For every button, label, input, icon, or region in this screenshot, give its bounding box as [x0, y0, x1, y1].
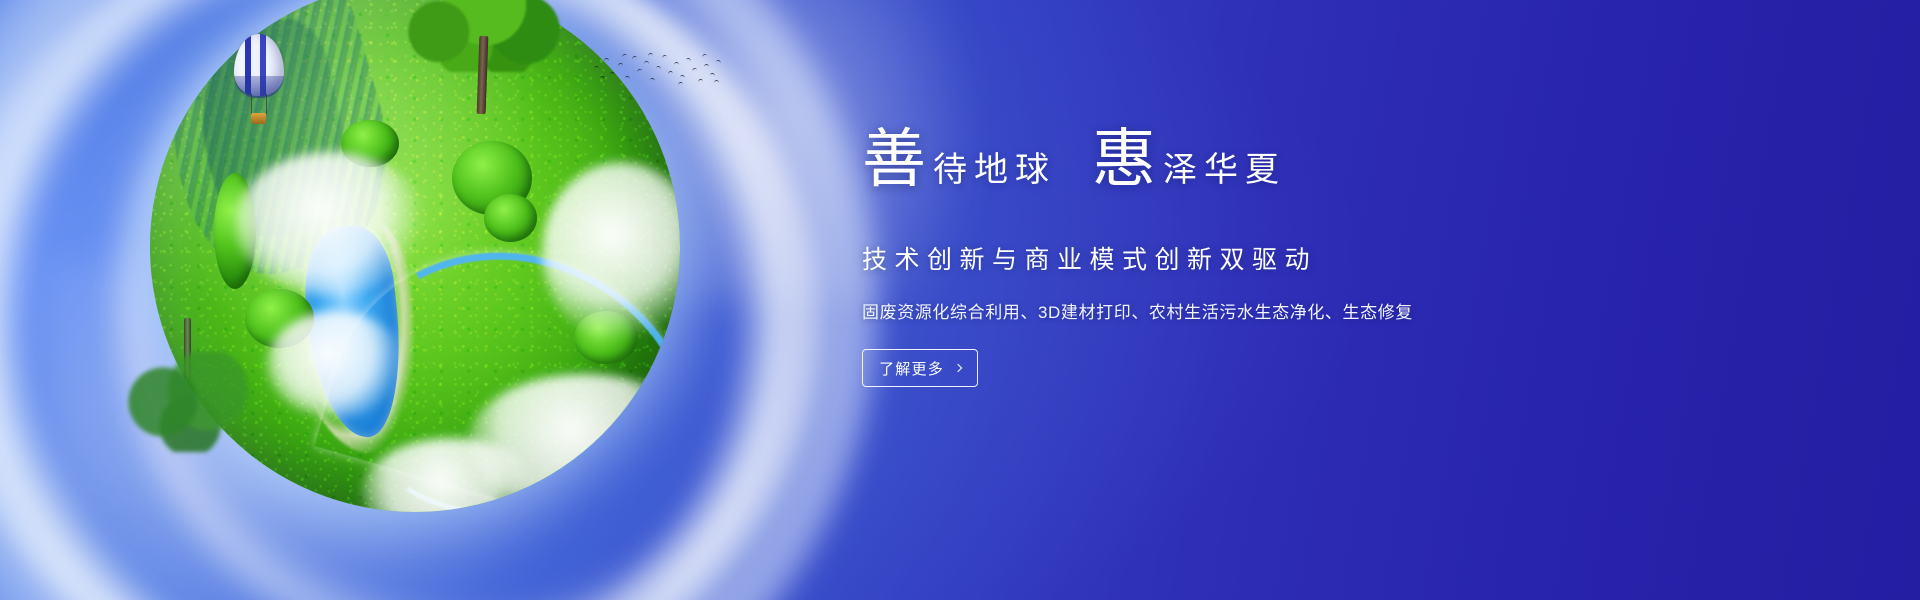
- headline-part2-small: 泽华夏: [1163, 154, 1286, 191]
- learn-more-button[interactable]: 了解更多: [862, 349, 978, 387]
- bird-icon: [698, 79, 703, 83]
- bird-icon: [680, 75, 685, 79]
- headline-part1-large: 善: [862, 128, 927, 192]
- balloon-basket: [251, 113, 266, 124]
- bird-icon: [714, 80, 719, 83]
- bird-icon: [650, 78, 655, 82]
- bird-icon: [674, 62, 679, 65]
- bird-icon: [644, 61, 649, 64]
- hero-copy: 善 待地球 惠 泽华夏 技术创新与商业模式创新双驱动 固废资源化综合利用、3D建…: [862, 128, 1562, 387]
- bird-icon: [637, 68, 643, 72]
- bird-icon: [710, 73, 715, 77]
- chevron-right-icon: [954, 363, 962, 371]
- tree-icon: [392, 0, 572, 106]
- balloon-lines: [251, 94, 267, 114]
- bird-icon: [604, 58, 609, 61]
- bird-icon: [600, 76, 605, 80]
- cloud-shape: [235, 152, 426, 295]
- bird-icon: [618, 63, 623, 67]
- learn-more-label: 了解更多: [879, 358, 944, 379]
- cloud-shape: [267, 311, 405, 417]
- bird-icon: [716, 59, 722, 63]
- balloon-envelope: [234, 34, 284, 96]
- hero-banner: 善 待地球 惠 泽华夏 技术创新与商业模式创新双驱动 固废资源化综合利用、3D建…: [0, 0, 1920, 600]
- bird-icon: [648, 53, 653, 57]
- bird-icon: [632, 55, 638, 59]
- bird-icon: [686, 57, 692, 61]
- headline-part2-large: 惠: [1092, 128, 1157, 192]
- bird-icon: [668, 71, 673, 75]
- tree-canopy: [118, 352, 268, 452]
- bird-icon: [702, 53, 708, 57]
- page-title: 善 待地球 惠 泽华夏: [862, 128, 1562, 214]
- bird-icon: [704, 64, 709, 67]
- bird-icon: [692, 67, 698, 71]
- bird-icon: [610, 72, 615, 76]
- bird-icon: [625, 76, 630, 80]
- bird-icon: [656, 65, 662, 69]
- hot-air-balloon-icon: [234, 34, 288, 130]
- hero-description: 固废资源化综合利用、3D建材打印、农村生活污水生态净化、生态修复: [862, 298, 1562, 323]
- bird-icon: [662, 54, 668, 58]
- hero-subtitle: 技术创新与商业模式创新双驱动: [862, 240, 1562, 276]
- tree-trunk: [477, 36, 489, 114]
- bird-icon: [622, 53, 628, 57]
- tree-silhouette-icon: [118, 318, 268, 468]
- bird-icon: [678, 82, 683, 86]
- shrub-icon: [484, 194, 537, 242]
- headline-part1-small: 待地球: [933, 154, 1056, 191]
- bird-flock-icon: [592, 52, 722, 88]
- bird-icon: [594, 66, 599, 69]
